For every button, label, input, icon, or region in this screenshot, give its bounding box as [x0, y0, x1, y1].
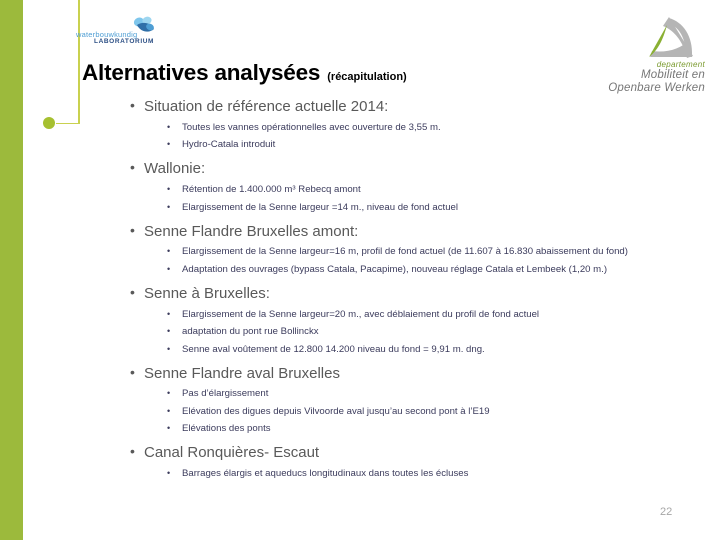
waterbouwkundig-laboratorium-logo: waterbouwkundig LABORATORIUM — [76, 16, 171, 48]
sub-bullet-item: •Elévation des digues depuis Vilvoorde a… — [164, 405, 688, 419]
bullet-glyph: • — [130, 283, 135, 303]
sub-bullet-item: •Adaptation des ouvrages (bypass Catala,… — [164, 263, 688, 277]
decorative-horizontal-rule — [56, 123, 79, 125]
sub-bullet-label: Elargissement de la Senne largeur=20 m.,… — [182, 309, 539, 320]
logo-text-openbare-werken: Openbare Werken — [580, 82, 705, 94]
section-heading: •Senne à Bruxelles: — [128, 283, 688, 304]
logo-text-departement: departement — [580, 60, 705, 69]
sub-bullet-item: •Hydro-Catala introduit — [164, 138, 688, 152]
bullet-glyph: • — [167, 386, 170, 400]
sub-bullet-list: •Elargissement de la Senne largeur=20 m.… — [128, 308, 688, 357]
logo-text-mobiliteit: Mobiliteit en — [580, 69, 705, 81]
bullet-glyph: • — [167, 466, 170, 480]
sub-bullet-label: Elargissement de la Senne largeur=16 m, … — [182, 246, 628, 257]
page-title: Alternatives analysées (récapitulation) — [82, 60, 407, 86]
sub-bullet-item: •Pas d’élargissement — [164, 387, 688, 401]
bullet-glyph: • — [167, 262, 170, 276]
sub-bullet-list: •Elargissement de la Senne largeur=16 m,… — [128, 245, 688, 277]
bullet-glyph: • — [167, 342, 170, 356]
sub-bullet-list: •Barrages élargis et aqueducs longitudin… — [128, 467, 688, 481]
sub-bullet-label: Elargissement de la Senne largeur =14 m.… — [182, 202, 458, 213]
bullet-glyph: • — [167, 120, 170, 134]
sub-bullet-item: •Elargissement de la Senne largeur=16 m,… — [164, 245, 688, 259]
section-heading-label: Wallonie: — [144, 160, 205, 177]
sub-bullet-item: •Senne aval voûtement de 12.800 14.200 n… — [164, 343, 688, 357]
sub-bullet-label: Senne aval voûtement de 12.800 14.200 ni… — [182, 344, 485, 355]
departement-mow-logo: departement Mobiliteit en Openbare Werke… — [580, 16, 705, 96]
bullet-glyph: • — [130, 221, 135, 241]
section-heading-label: Senne à Bruxelles: — [144, 285, 270, 302]
sub-bullet-item: •Barrages élargis et aqueducs longitudin… — [164, 467, 688, 481]
triangle-swoosh-icon — [643, 16, 695, 62]
section-heading-label: Canal Ronquières- Escaut — [144, 444, 319, 461]
bullet-glyph: • — [130, 158, 135, 178]
decorative-dot — [43, 117, 55, 129]
sub-bullet-item: •Elévations des ponts — [164, 422, 688, 436]
section-heading: •Situation de référence actuelle 2014: — [128, 96, 688, 117]
sub-bullet-item: •Elargissement de la Senne largeur=20 m.… — [164, 308, 688, 322]
sub-bullet-label: Hydro-Catala introduit — [182, 139, 275, 150]
logo-text-laboratorium: LABORATORIUM — [94, 38, 154, 45]
bullet-glyph: • — [167, 421, 170, 435]
sub-bullet-label: Toutes les vannes opérationnelles avec o… — [182, 122, 441, 133]
content-body: •Situation de référence actuelle 2014:•T… — [128, 96, 688, 481]
bullet-glyph: • — [167, 307, 170, 321]
sub-bullet-label: Elévations des ponts — [182, 423, 271, 434]
bullet-glyph: • — [167, 137, 170, 151]
page-title-subtitle: (récapitulation) — [327, 71, 406, 83]
sub-bullet-list: •Toutes les vannes opérationnelles avec … — [128, 121, 688, 153]
section-heading-label: Senne Flandre Bruxelles amont: — [144, 223, 358, 240]
sub-bullet-item: •Elargissement de la Senne largeur =14 m… — [164, 201, 688, 215]
page-title-main: Alternatives analysées — [82, 60, 320, 86]
bullet-glyph: • — [167, 244, 170, 258]
sub-bullet-item: • adaptation du pont rue Bollinckx — [164, 325, 688, 339]
section-heading: •Senne Flandre aval Bruxelles — [128, 363, 688, 384]
page-number: 22 — [660, 506, 672, 518]
section-heading: •Wallonie: — [128, 158, 688, 179]
sub-bullet-item: •Rétention de 1.400.000 m³ Rebecq amont — [164, 183, 688, 197]
slide-canvas: waterbouwkundig LABORATORIUM departement… — [0, 0, 720, 540]
sub-bullet-list: •Rétention de 1.400.000 m³ Rebecq amont•… — [128, 183, 688, 215]
sub-bullet-label: adaptation du pont rue Bollinckx — [182, 326, 319, 337]
left-green-edge-bar — [0, 0, 23, 540]
sub-bullet-label: Adaptation des ouvrages (bypass Catala, … — [182, 264, 607, 275]
bullet-glyph: • — [167, 182, 170, 196]
bullet-glyph: • — [130, 363, 135, 383]
bullet-glyph: • — [167, 324, 170, 338]
bullet-glyph: • — [130, 442, 135, 462]
sub-bullet-item: •Toutes les vannes opérationnelles avec … — [164, 121, 688, 135]
sub-bullet-list: •Pas d’élargissement•Elévation des digue… — [128, 387, 688, 436]
bullet-glyph: • — [130, 96, 135, 116]
bullet-glyph: • — [167, 200, 170, 214]
bullet-glyph: • — [167, 404, 170, 418]
section-heading: •Senne Flandre Bruxelles amont: — [128, 221, 688, 242]
sub-bullet-label: Barrages élargis et aqueducs longitudina… — [182, 468, 468, 479]
sub-bullet-label: Pas d’élargissement — [182, 388, 268, 399]
section-heading-label: Senne Flandre aval Bruxelles — [144, 365, 340, 382]
sub-bullet-label: Elévation des digues depuis Vilvoorde av… — [182, 406, 490, 417]
section-heading: •Canal Ronquières- Escaut — [128, 442, 688, 463]
sub-bullet-label: Rétention de 1.400.000 m³ Rebecq amont — [182, 184, 361, 195]
section-heading-label: Situation de référence actuelle 2014: — [144, 98, 388, 115]
